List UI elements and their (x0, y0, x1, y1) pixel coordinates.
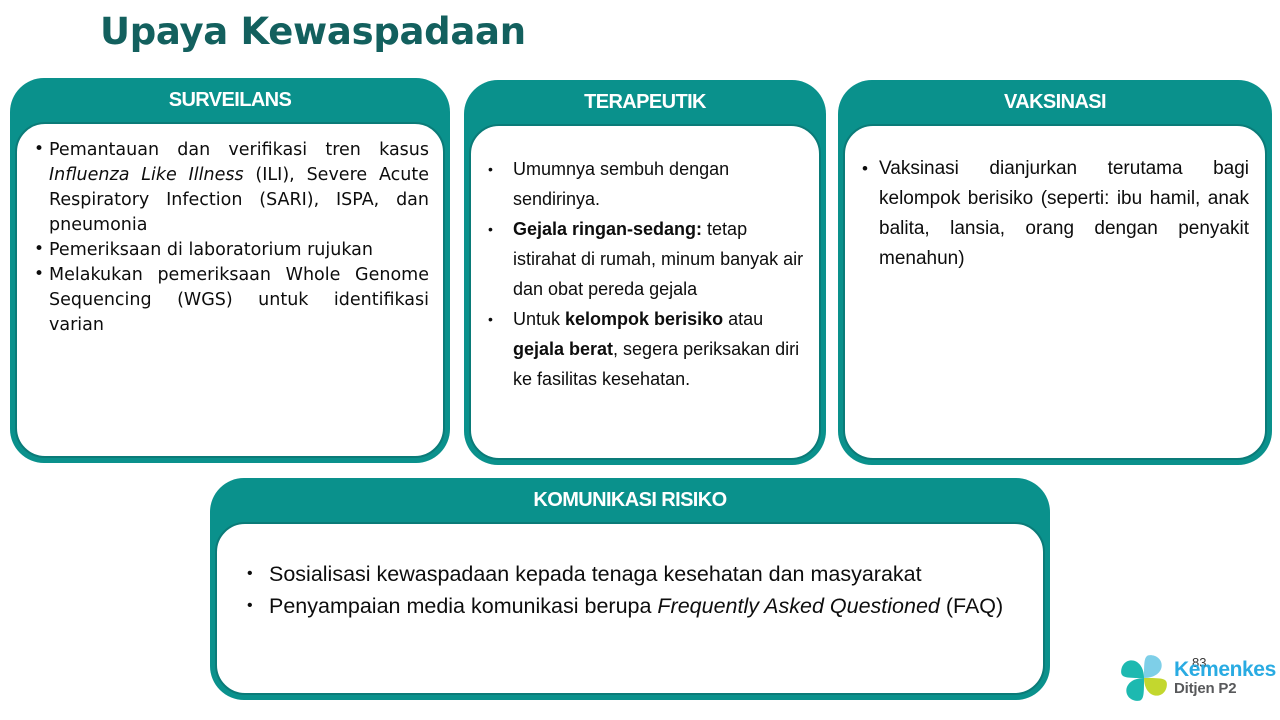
kemenkes-logo-text: Kemenkes Ditjen P2 (1174, 659, 1276, 697)
kemenkes-logo: Kemenkes Ditjen P2 (1118, 648, 1278, 708)
card-vaksinasi-bullet-list: Vaksinasi dianjurkan terutama bagi kelom… (859, 154, 1249, 274)
bullet-item: Umumnya sembuh dengan sendirinya. (483, 154, 807, 214)
card-komunikasi-risiko: KOMUNIKASI RISIKO Sosialisasi kewaspadaa… (210, 478, 1050, 700)
bullet-item: Untuk kelompok berisiko atau gejala bera… (483, 304, 807, 394)
card-terapeutik: TERAPEUTIK Umumnya sembuh dengan sendiri… (464, 80, 826, 465)
bullet-item: Melakukan pemeriksaan Whole Genome Seque… (31, 263, 429, 338)
bullet-text-run: Influenza Like Illness (49, 165, 244, 185)
bullet-text-run: gejala berat (513, 339, 613, 359)
bullet-text-run: Pemeriksaan di laboratorium rujukan (49, 240, 373, 260)
bullet-item: Penyampaian media komunikasi berupa Freq… (239, 590, 1021, 622)
card-vaksinasi-body: Vaksinasi dianjurkan terutama bagi kelom… (843, 124, 1267, 460)
card-vaksinasi: VAKSINASI Vaksinasi dianjurkan terutama … (838, 80, 1272, 465)
bullet-text-run: atau (723, 309, 763, 329)
bullet-text-run: Untuk (513, 309, 565, 329)
bullet-text-run: Frequently Asked Questioned (657, 594, 939, 618)
slide-canvas: Upaya Kewaspadaan SURVEILANS Pemantauan … (0, 0, 1280, 720)
card-surveilans-bullet-list: Pemantauan dan verifikasi tren kasus Inf… (31, 138, 429, 338)
kemenkes-clover-logo-icon (1118, 652, 1170, 704)
bullet-item: Vaksinasi dianjurkan terutama bagi kelom… (859, 154, 1249, 274)
card-komunikasi-risiko-body: Sosialisasi kewaspadaan kepada tenaga ke… (215, 522, 1045, 695)
bullet-item: Gejala ringan-sedang: tetap istirahat di… (483, 214, 807, 304)
card-surveilans-header: SURVEILANS (10, 78, 450, 122)
bullet-text-run: Vaksinasi dianjurkan terutama bagi kelom… (879, 158, 1249, 269)
card-vaksinasi-header: VAKSINASI (838, 80, 1272, 124)
card-terapeutik-bullet-list: Umumnya sembuh dengan sendirinya.Gejala … (483, 154, 807, 394)
bullet-text-run: Gejala ringan-sedang: (513, 219, 702, 239)
bullet-text-run: Melakukan pemeriksaan Whole Genome Seque… (49, 265, 429, 335)
card-komunikasi-risiko-bullet-list: Sosialisasi kewaspadaan kepada tenaga ke… (239, 558, 1021, 622)
bullet-item: Pemantauan dan verifikasi tren kasus Inf… (31, 138, 429, 238)
bullet-text-run: Umumnya sembuh dengan sendirinya. (513, 159, 729, 209)
kemenkes-logo-secondary: Ditjen P2 (1174, 681, 1276, 697)
kemenkes-logo-primary: Kemenkes (1174, 659, 1276, 681)
page-title: Upaya Kewaspadaan (100, 10, 526, 53)
bullet-text-run: kelompok berisiko (565, 309, 723, 329)
bullet-item: Pemeriksaan di laboratorium rujukan (31, 238, 429, 263)
bullet-text-run: Sosialisasi kewaspadaan kepada tenaga ke… (269, 562, 922, 586)
card-terapeutik-body: Umumnya sembuh dengan sendirinya.Gejala … (469, 124, 821, 460)
card-komunikasi-risiko-header: KOMUNIKASI RISIKO (210, 478, 1050, 522)
bullet-text-run: Pemantauan dan verifikasi tren kasus (49, 140, 429, 160)
card-surveilans-body: Pemantauan dan verifikasi tren kasus Inf… (15, 122, 445, 458)
bullet-text-run: (FAQ) (940, 594, 1003, 618)
bullet-item: Sosialisasi kewaspadaan kepada tenaga ke… (239, 558, 1021, 590)
card-surveilans: SURVEILANS Pemantauan dan verifikasi tre… (10, 78, 450, 463)
bullet-text-run: Penyampaian media komunikasi berupa (269, 594, 657, 618)
card-terapeutik-header: TERAPEUTIK (464, 80, 826, 124)
